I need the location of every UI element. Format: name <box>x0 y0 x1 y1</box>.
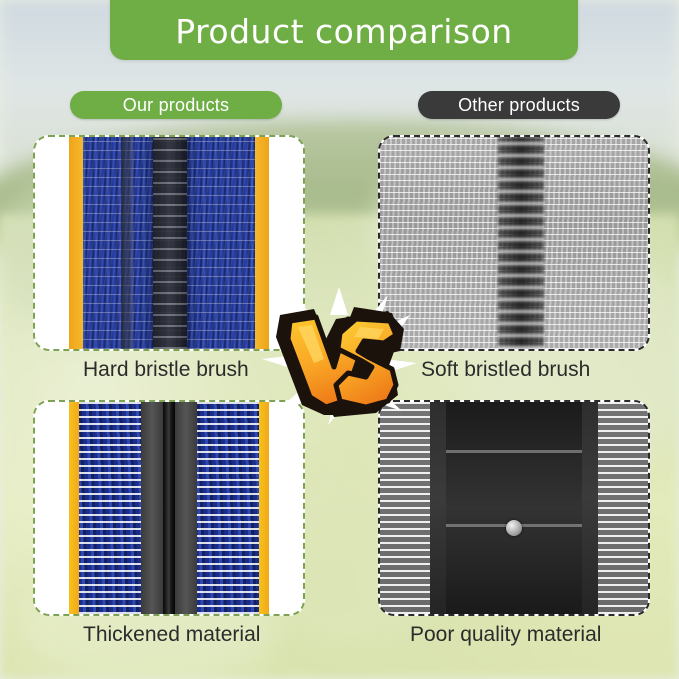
photo-poor-quality-material <box>380 402 648 614</box>
photo-soft-bristled-brush <box>380 137 648 349</box>
photo-frame-ours-row2 <box>33 400 305 616</box>
column-badge-our-products: Our products <box>70 91 282 119</box>
brush-center-core <box>153 137 187 349</box>
column-badge-our-products-label: Our products <box>123 95 229 116</box>
column-badge-other-products: Other products <box>418 91 620 119</box>
page-title: Product comparison <box>175 15 512 60</box>
brush-yellow-edge-right <box>259 402 269 614</box>
caption-ours-row1: Hard bristle brush <box>83 358 249 382</box>
caption-ours-row2: Thickened material <box>83 623 260 647</box>
brush-blue-bristles-right <box>197 402 259 614</box>
screw-icon <box>506 520 522 536</box>
caption-other-row1: Soft bristled brush <box>421 358 590 382</box>
photo-thickened-material <box>35 402 303 614</box>
brush-orange-edge-left <box>69 137 83 349</box>
poor-material-seam <box>446 450 582 453</box>
vs-burst-icon <box>262 285 417 425</box>
brush-grey-band-right <box>175 402 197 614</box>
title-banner: Product comparison <box>110 0 578 60</box>
brush-blue-bristles-left <box>79 402 141 614</box>
brush-grey-band-left <box>141 402 163 614</box>
brush-inner-shadow <box>121 137 133 349</box>
photo-frame-other-row1 <box>378 135 650 351</box>
column-badge-other-products-label: Other products <box>458 95 580 116</box>
brush-thick-black-core <box>163 402 175 614</box>
poor-material-panel <box>430 402 598 614</box>
brush-yellow-edge-left <box>69 402 79 614</box>
photo-frame-other-row2 <box>378 400 650 616</box>
caption-other-row2: Poor quality material <box>410 623 601 647</box>
soft-brush-center-core <box>498 137 544 349</box>
